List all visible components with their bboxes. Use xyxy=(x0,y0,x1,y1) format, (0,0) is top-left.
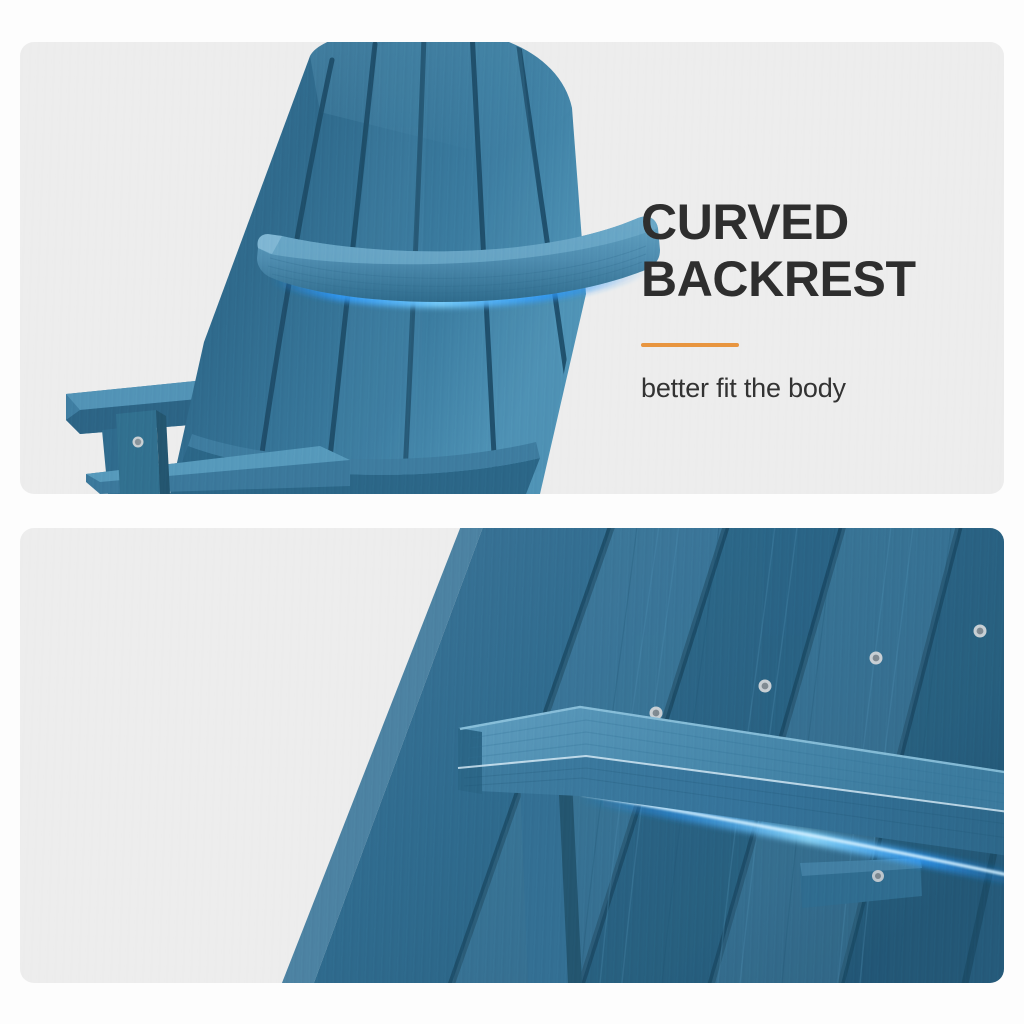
armrest-support-posts xyxy=(116,410,170,494)
feature-panel-wide-armrests: WIDE ARMRESTS for better arm relaxation xyxy=(20,528,1004,983)
feature-text-curved-backrest: CURVED BACKREST better fit the body xyxy=(641,194,981,404)
accent-divider-top xyxy=(641,343,739,347)
chair-armrest-illustration xyxy=(20,528,1004,983)
product-feature-collage: CURVED BACKREST better fit the body xyxy=(0,0,1024,1024)
headline-curved-backrest: CURVED BACKREST xyxy=(641,194,981,307)
subtext-curved-backrest: better fit the body xyxy=(641,373,981,404)
feature-panel-curved-backrest: CURVED BACKREST better fit the body xyxy=(20,42,1004,494)
